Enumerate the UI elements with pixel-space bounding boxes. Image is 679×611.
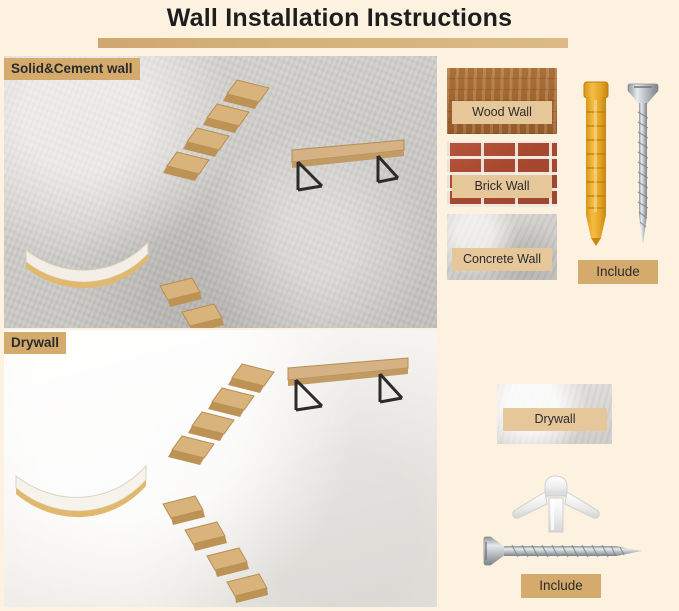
curved-shelf-board — [22, 234, 152, 289]
yellow-plastic-anchor-icon — [575, 78, 619, 248]
silver-screw-icon — [626, 78, 662, 248]
toggle-anchor-icon — [505, 470, 615, 536]
drywall-photo — [4, 330, 437, 607]
concrete-wall-caption: Concrete Wall — [452, 248, 552, 271]
include-label-bottom: Include — [521, 574, 601, 598]
include-label-top: Include — [578, 260, 658, 284]
page-title: Wall Installation Instructions — [0, 4, 679, 33]
drywall-label: Drywall — [4, 332, 66, 354]
drywall-step-lower — [159, 492, 274, 607]
drywall-step-upper — [164, 362, 284, 472]
wall-step-lower — [156, 274, 266, 328]
title-underline-bar — [98, 38, 568, 48]
wood-wall-caption: Wood Wall — [452, 101, 552, 124]
silver-screw-icon-bottom — [480, 534, 644, 568]
header: Wall Installation Instructions — [0, 0, 679, 55]
wall-step-upper — [159, 78, 279, 188]
brick-wall-caption: Brick Wall — [452, 175, 552, 198]
drywall-curved-shelf-board — [12, 458, 152, 518]
wall-shelf-with-brackets — [286, 136, 408, 194]
drywall-swatch-caption: Drywall — [503, 408, 607, 431]
cement-wall-photo — [4, 56, 437, 328]
solid-cement-wall-label: Solid&Cement wall — [4, 58, 140, 80]
drywall-shelf-with-brackets — [282, 352, 412, 414]
